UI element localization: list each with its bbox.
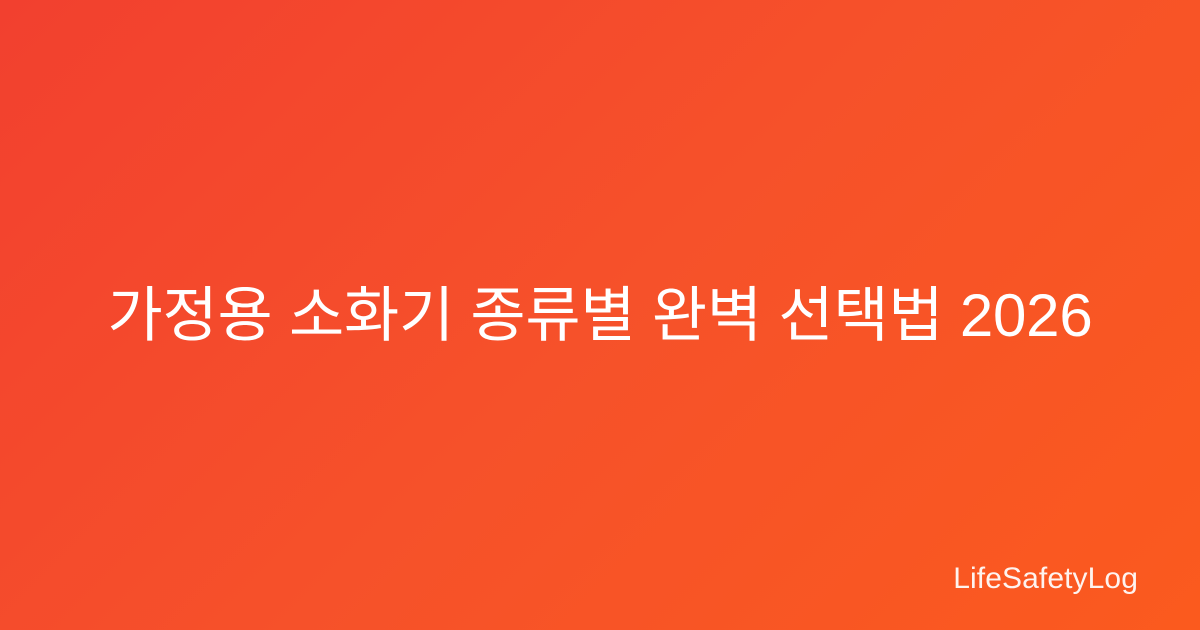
og-card: 가정용 소화기 종류별 완벽 선택법 2026 LifeSafetyLog [0, 0, 1200, 630]
brand-watermark: LifeSafetyLog [953, 564, 1138, 594]
headline-container: 가정용 소화기 종류별 완벽 선택법 2026 [70, 278, 1130, 353]
page-title: 가정용 소화기 종류별 완벽 선택법 2026 [90, 278, 1110, 353]
